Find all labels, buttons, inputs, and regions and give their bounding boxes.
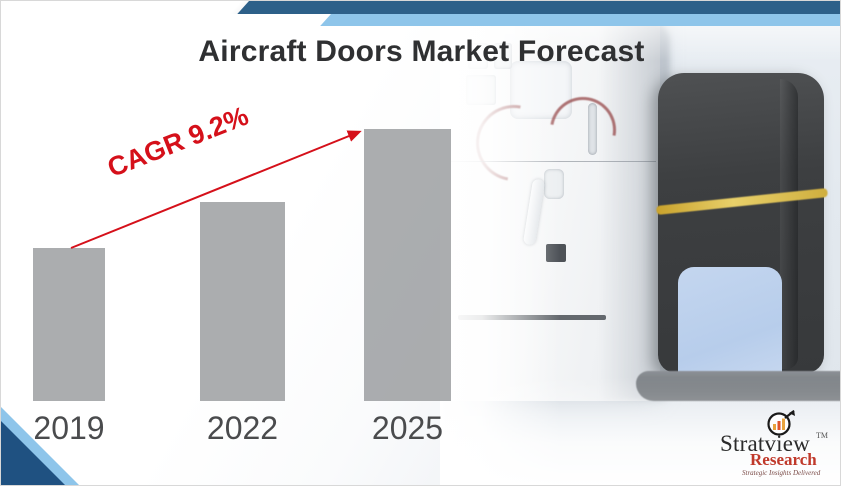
door-window-opening: [678, 267, 782, 387]
x-axis-label-2022: 2022: [200, 410, 285, 447]
stratview-research-logo[interactable]: Stratview TM Research Strategic Insights…: [712, 409, 834, 479]
x-axis-label-2025: 2025: [364, 410, 451, 447]
cagr-trend-arrow: [71, 132, 359, 248]
open-door-edge: [780, 79, 798, 369]
logo-tagline: Strategic Insights Delivered: [742, 469, 820, 477]
logo-subbrand-text: Research: [750, 450, 817, 470]
x-axis-label-2019: 2019: [33, 410, 105, 447]
infographic-canvas: Aircraft Doors Market Forecast CAGR 9.2%…: [0, 0, 841, 486]
bar-chart: CAGR 9.2% 2019 2022 2025: [1, 1, 471, 486]
logo-trademark: TM: [816, 431, 828, 440]
